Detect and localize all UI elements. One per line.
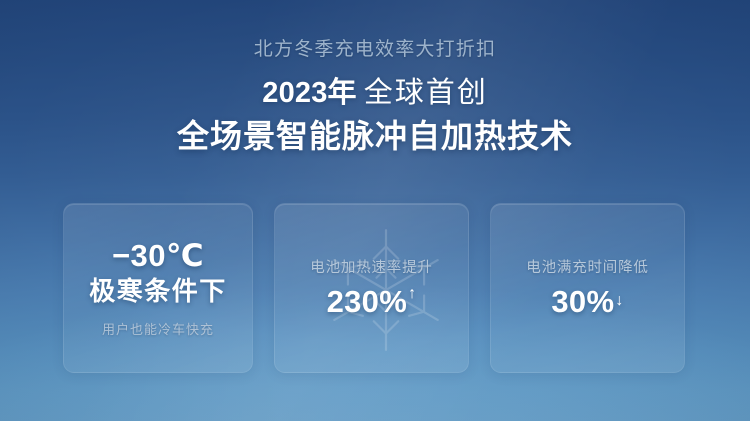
arrow-down-icon: ↓ [615, 293, 623, 309]
cold-temperature-value: −30℃ [112, 238, 204, 275]
headline-block: 北方冬季充电效率大打折扣 2023年全球首创 全场景智能脉冲自加热技术 [0, 36, 750, 157]
full-charge-time-value: 30% [551, 283, 614, 320]
cold-condition-note: 用户也能冷车快充 [102, 319, 214, 338]
heating-rate-value: 230% [327, 283, 408, 320]
full-charge-time-label: 电池满充时间降低 [526, 256, 648, 277]
full-charge-time-value-group: 30% ↓ [551, 283, 623, 320]
title-year: 2023年 [262, 77, 357, 109]
title-tech-name: 全场景智能脉冲自加热技术 [0, 116, 750, 158]
card-cold-condition: −30℃ 极寒条件下 用户也能冷车快充 [63, 203, 253, 373]
card-full-charge-time: 电池满充时间降低 30% ↓ [490, 203, 685, 373]
promo-canvas: 北方冬季充电效率大打折扣 2023年全球首创 全场景智能脉冲自加热技术 −30℃… [0, 0, 750, 421]
heating-rate-label: 电池加热速率提升 [310, 256, 432, 277]
page-title: 2023年全球首创 [0, 74, 750, 112]
eyebrow-text: 北方冬季充电效率大打折扣 [0, 36, 750, 65]
feature-card-row: −30℃ 极寒条件下 用户也能冷车快充 电池加热速率提升 230% ↑ 电池满充… [63, 203, 691, 373]
card-heating-rate: 电池加热速率提升 230% ↑ [274, 203, 469, 373]
cold-condition-label: 极寒条件下 [89, 276, 227, 308]
title-first-in-world: 全球首创 [364, 77, 488, 109]
heating-rate-value-group: 230% ↑ [327, 283, 417, 320]
arrow-up-icon: ↑ [408, 286, 416, 302]
